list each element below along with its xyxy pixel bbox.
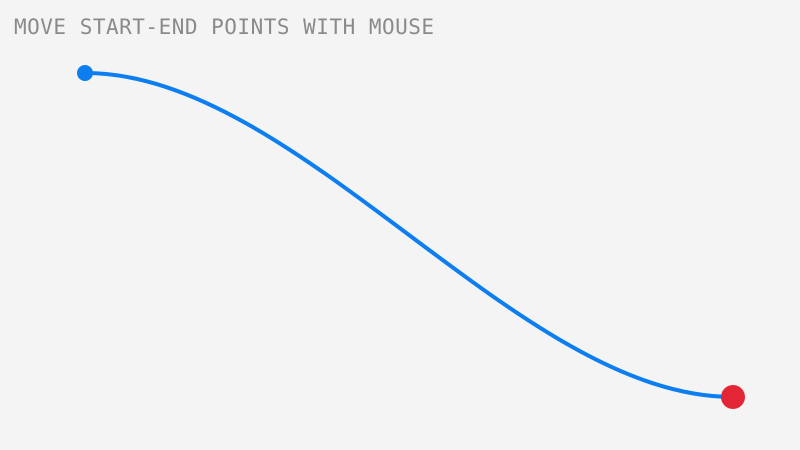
canvas-background [0, 0, 800, 450]
page-title: MOVE START-END POINTS WITH MOUSE [14, 15, 435, 39]
curve-demo-app: MOVE START-END POINTS WITH MOUSE [0, 0, 800, 450]
end-point-drag-target[interactable] [717, 381, 749, 413]
bezier-canvas[interactable] [0, 0, 800, 450]
start-point-drag-target[interactable] [73, 61, 97, 85]
